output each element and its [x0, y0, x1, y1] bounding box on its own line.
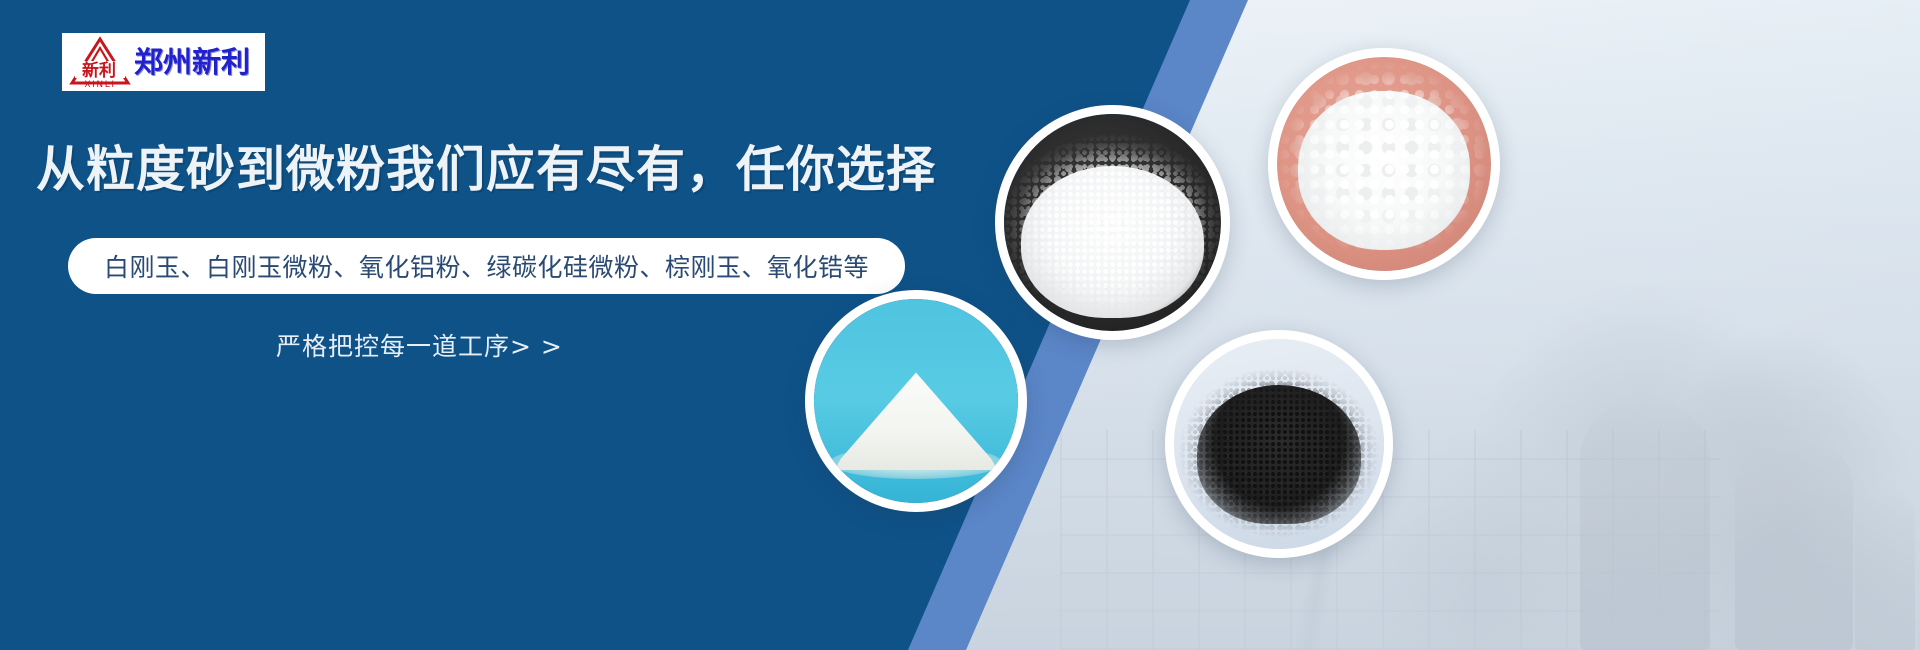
svg-text:XINLI: XINLI: [84, 80, 115, 89]
svg-text:新利: 新利: [82, 60, 116, 81]
product-list-text: 白刚玉、白刚玉微粉、氧化铝粉、绿碳化硅微粉、棕刚玉、氧化锆等: [104, 248, 869, 284]
product-circle-powder-cone: [805, 290, 1027, 512]
logo-wordmark: 郑州新利: [134, 48, 250, 77]
product-list-pill: 白刚玉、白刚玉微粉、氧化铝粉、绿碳化硅微粉、棕刚玉、氧化锆等: [68, 238, 905, 294]
hero-banner: 新利 XINLI 郑州新利 从粒度砂到微粉我们应有尽有，任你选择 白刚玉、白刚玉…: [0, 0, 1920, 650]
banner-headline: 从粒度砂到微粉我们应有尽有，任你选择: [36, 143, 936, 197]
product-circle-white-fused-alumina: [995, 105, 1230, 340]
product-circle-black-silicon-carbide: [1165, 330, 1393, 558]
xinli-triangle-icon: 新利 XINLI: [68, 35, 132, 89]
product-circle-alumina-powder: [1268, 48, 1500, 280]
process-cta-link[interactable]: 严格把控每一道工序> >: [276, 327, 563, 363]
company-logo[interactable]: 新利 XINLI 郑州新利: [62, 33, 265, 91]
